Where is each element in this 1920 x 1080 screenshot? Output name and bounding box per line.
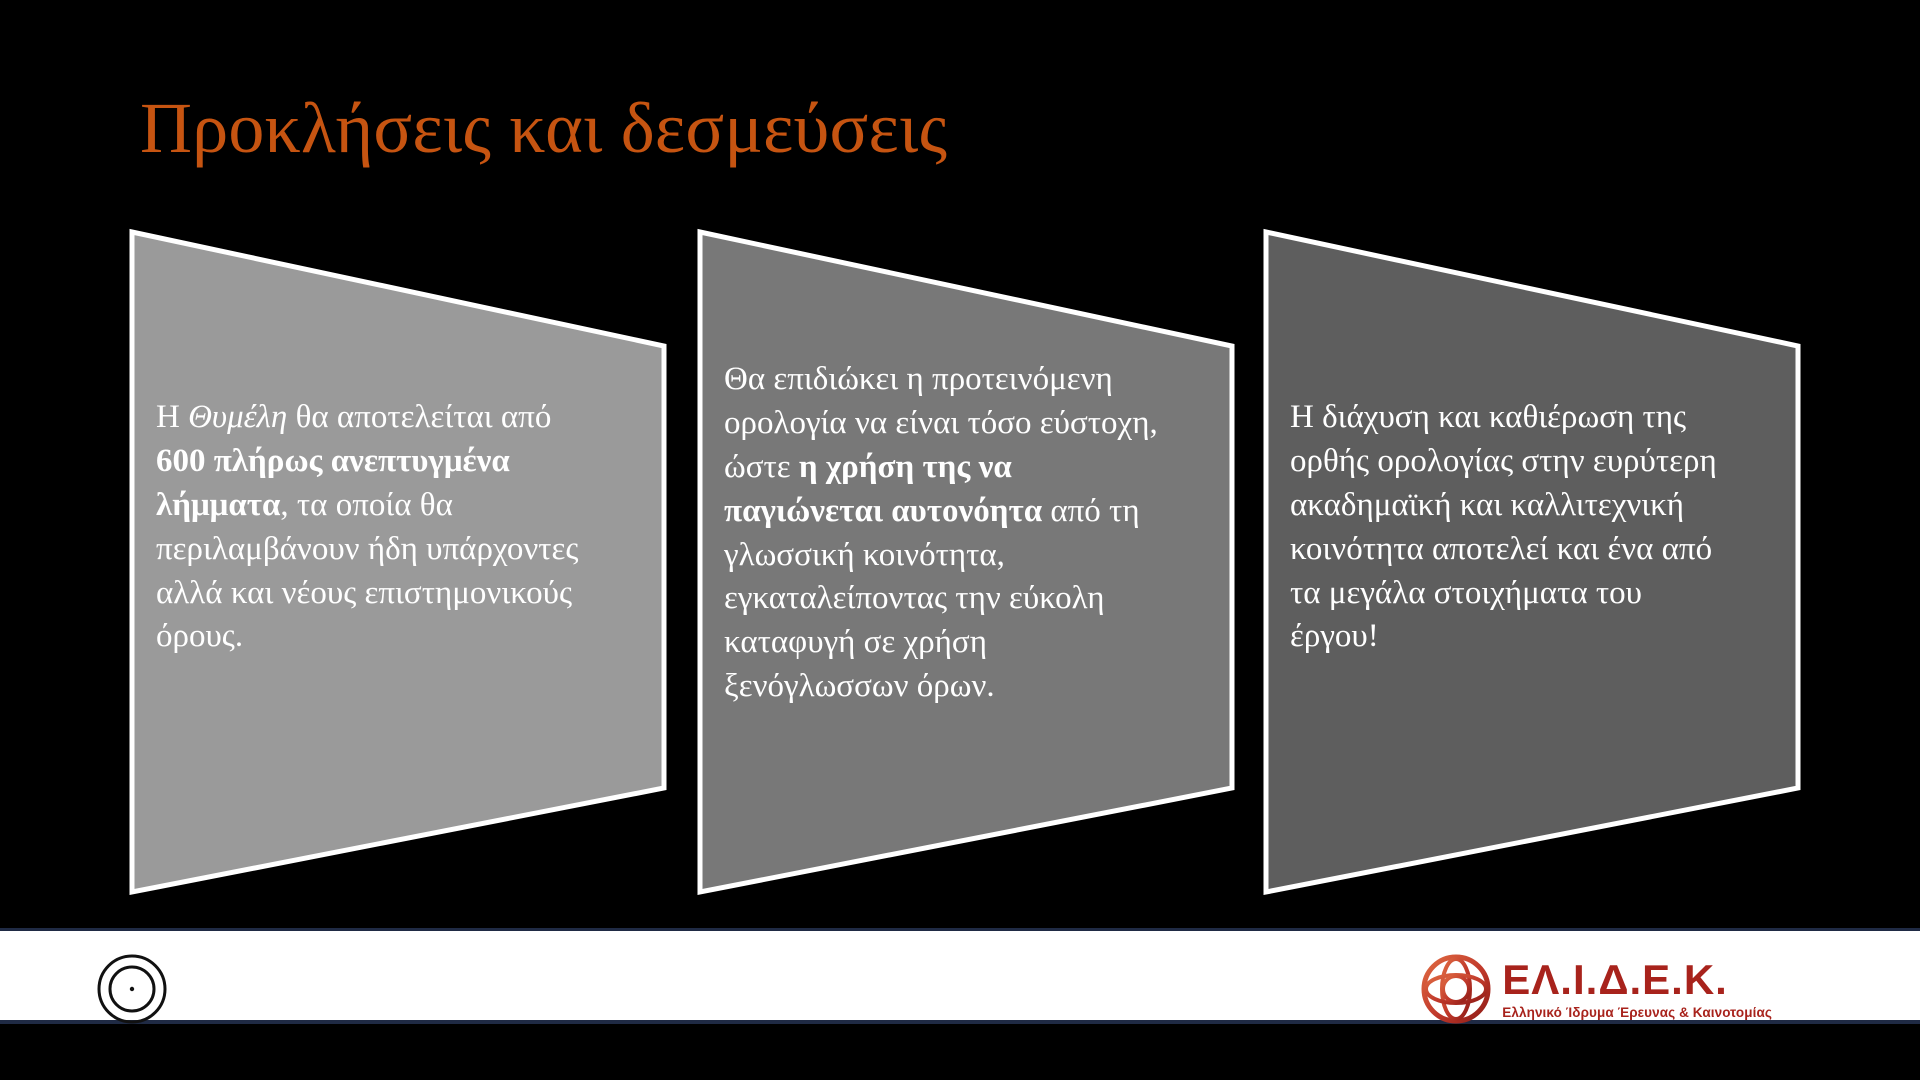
elidek-wordmark: ΕΛ.Ι.Δ.Ε.Κ. Ελληνικό Ίδρυμα Έρευνας & Κα… <box>1502 959 1772 1020</box>
page-title: Προκλήσεις και δεσμεύσεις <box>140 88 1540 169</box>
slide: Προκλήσεις και δεσμεύσεις Η Θυμέλη θα απ… <box>0 0 1920 1080</box>
panel-1-seg-2: θα αποτελείται από <box>287 399 551 435</box>
content-panel-2[interactable]: Θα επιδιώκει η προτεινόμενη ορολογία να … <box>696 228 1236 896</box>
panel-1-seg-1: Θυμέλη <box>188 399 287 435</box>
target-circles-icon <box>96 953 168 1025</box>
content-panel-3[interactable]: Η διάχυση και καθιέρωση της ορθής ορολογ… <box>1262 228 1802 896</box>
panel-1-text: Η Θυμέλη θα αποτελείται από 600 πλήρως α… <box>156 396 594 659</box>
content-panel-1[interactable]: Η Θυμέλη θα αποτελείται από 600 πλήρως α… <box>128 228 668 896</box>
panel-2-text: Θα επιδιώκει η προτεινόμενη ορολογία να … <box>724 358 1162 709</box>
panel-3-text: Η διάχυση και καθιέρωση της ορθής ορολογ… <box>1290 396 1728 659</box>
panel-3-seg-0: Η διάχυση και καθιέρωση της ορθής ορολογ… <box>1290 399 1717 654</box>
elidek-subtitle: Ελληνικό Ίδρυμα Έρευνας & Καινοτομίας <box>1502 1006 1772 1020</box>
footer-top-rule <box>0 928 1920 931</box>
panel-1-seg-0: Η <box>156 399 188 435</box>
elidek-logo: ΕΛ.Ι.Δ.Ε.Κ. Ελληνικό Ίδρυμα Έρευνας & Κα… <box>1420 952 1772 1026</box>
elidek-name: ΕΛ.Ι.Δ.Ε.Κ. <box>1502 959 1772 1001</box>
elidek-sphere-icon <box>1420 953 1492 1025</box>
panel-group: Η Θυμέλη θα αποτελείται από 600 πλήρως α… <box>0 228 1920 898</box>
